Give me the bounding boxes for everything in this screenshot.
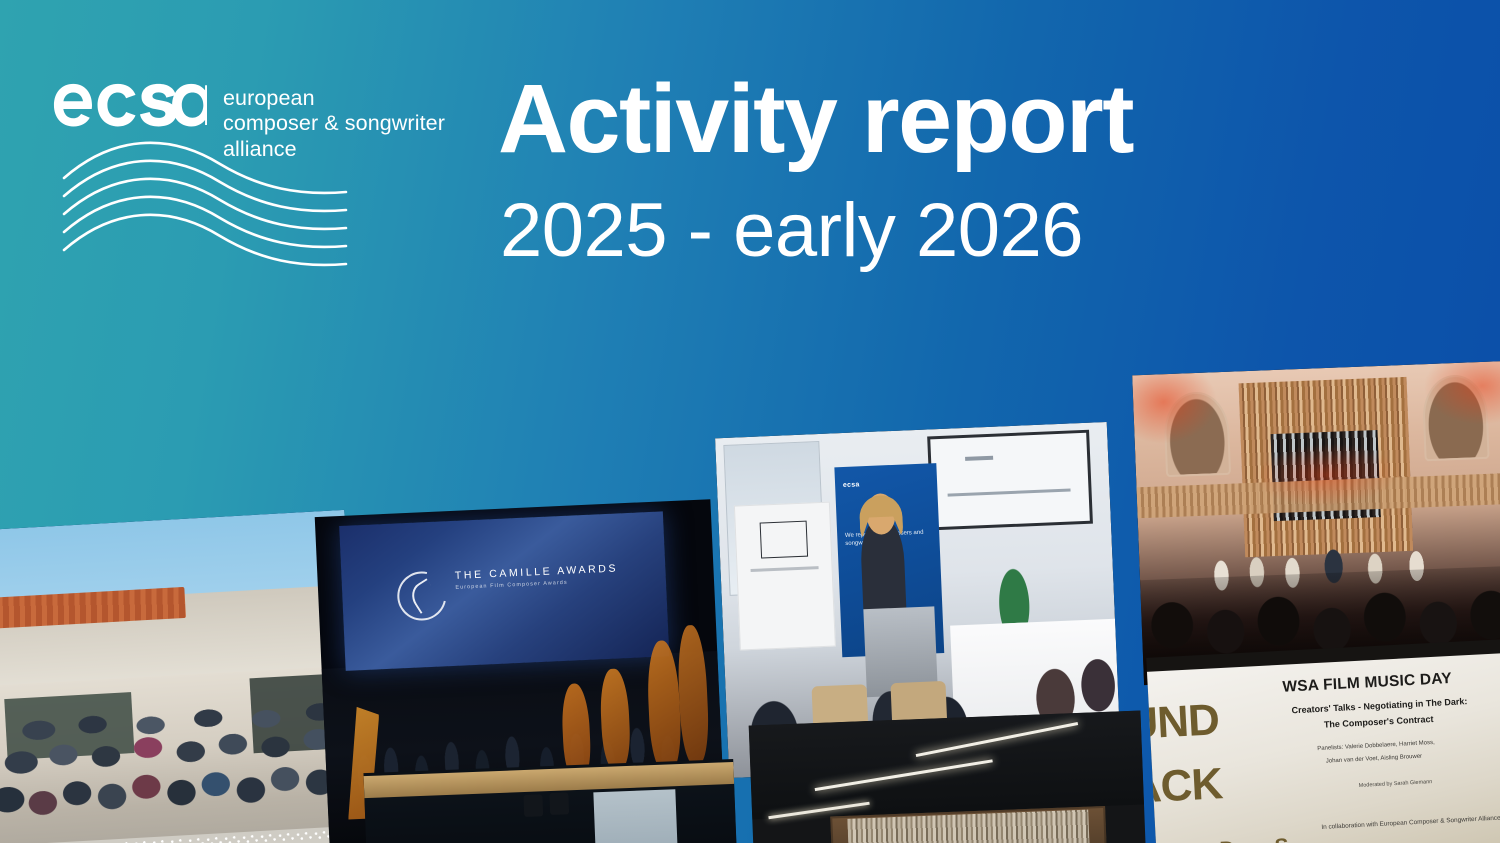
photo-collage: THE CAMILLE AWARDS European Film Compose… — [0, 330, 1500, 843]
rollup-logo-text: ecsa — [843, 482, 860, 490]
camille-awards-screen: THE CAMILLE AWARDS European Film Compose… — [339, 511, 670, 671]
ecsa-waves-icon — [60, 138, 350, 268]
photo-concert-hall — [1132, 361, 1500, 685]
activity-report-cover: european composer & songwriter alliance … — [0, 0, 1500, 843]
title-main: Activity report — [498, 70, 1258, 169]
title-subtitle: 2025 - early 2026 — [500, 191, 1258, 272]
poster-subtitle-2: The Composer's Contract — [1324, 714, 1434, 730]
poster-moderator: Moderated by Sarah Giemann — [1359, 779, 1433, 789]
logo-line-1: european — [223, 86, 445, 111]
page-title: Activity report 2025 - early 2026 — [498, 70, 1258, 271]
ecsa-logo: european composer & songwriter alliance — [52, 78, 512, 162]
poster-panelists-2: Johan van der Voet, Aisling Brouwer — [1326, 754, 1423, 765]
camille-logo-icon — [388, 562, 456, 630]
poster-big-line-1: UND — [1146, 700, 1220, 745]
photo-wsa-poster: UND ACK R D S WSA FILM MUSIC DAY Creator… — [1146, 638, 1500, 843]
poster-heading: WSA FILM MUSIC DAY — [1282, 670, 1452, 697]
poster-big-line-2: ACK — [1146, 765, 1223, 810]
photo-creators-conference: Creators' Conference — [363, 759, 738, 843]
logo-line-2: composer & songwriter — [223, 111, 445, 136]
poster-big-line-3: R D S — [1164, 834, 1306, 843]
poster-collaboration: In collaboration with European Composer … — [1321, 814, 1500, 830]
photo-group-outdoors — [0, 510, 363, 843]
photo-studio-group — [749, 711, 1148, 843]
poster-panelists-1: Panelists: Valerie Dobbelaere, Harriet M… — [1317, 740, 1435, 752]
camille-screen-title: THE CAMILLE AWARDS — [455, 563, 619, 582]
poster-subtitle-1: Creators' Talks - Negotiating in The Dar… — [1291, 696, 1467, 715]
ecsa-wordmark-icon — [52, 78, 207, 132]
